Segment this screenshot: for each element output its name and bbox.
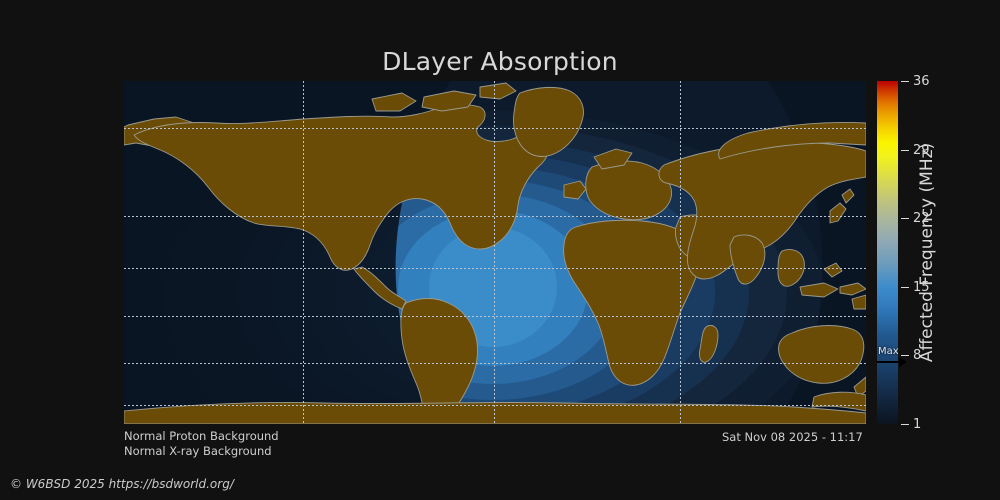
colorbar-tick-29 [901, 150, 909, 151]
colorbar-gradient [877, 81, 898, 424]
page-title: DLayer Absorption [0, 47, 1000, 76]
world-map[interactable] [124, 81, 866, 424]
gridline-lat-45n [124, 216, 866, 217]
proton-background-status: Normal Proton Background [124, 429, 279, 444]
timestamp: Sat Nov 08 2025 - 11:17 [722, 430, 863, 445]
gridline-lat-23s [124, 363, 866, 364]
gridline-lon-0 [494, 81, 495, 424]
dlayer-absorption-page: DLayer Absorption [0, 0, 1000, 500]
colorbar-tick-36 [901, 81, 909, 82]
colorbar-tick-1 [901, 424, 909, 425]
max-marker-label: Max [878, 347, 899, 357]
gridline-lat-23n [124, 268, 866, 269]
max-arrow-icon [899, 357, 907, 367]
copyright-footer: © W6BSD 2025 https://bsdworld.org/ [10, 477, 234, 491]
gridline-lon-120w [303, 81, 304, 424]
max-arrow-line [877, 361, 901, 363]
gridline-lat-0 [124, 316, 866, 317]
colorbar[interactable]: 36 29 22 15 8 1 [877, 81, 898, 424]
gridline-lat-66n [124, 128, 866, 129]
xray-background-status: Normal X-ray Background [124, 444, 279, 459]
status-annotations: Normal Proton Background Normal X-ray Ba… [124, 429, 279, 459]
colorbar-tick-15 [901, 287, 909, 288]
map-canvas [124, 81, 866, 424]
gridline-lat-66s [124, 405, 866, 406]
colorbar-axis-title: Affected Frequency (MHz) [916, 81, 938, 424]
gridline-lon-90e [680, 81, 681, 424]
colorbar-max-marker: Max [877, 348, 917, 368]
colorbar-tick-22 [901, 218, 909, 219]
